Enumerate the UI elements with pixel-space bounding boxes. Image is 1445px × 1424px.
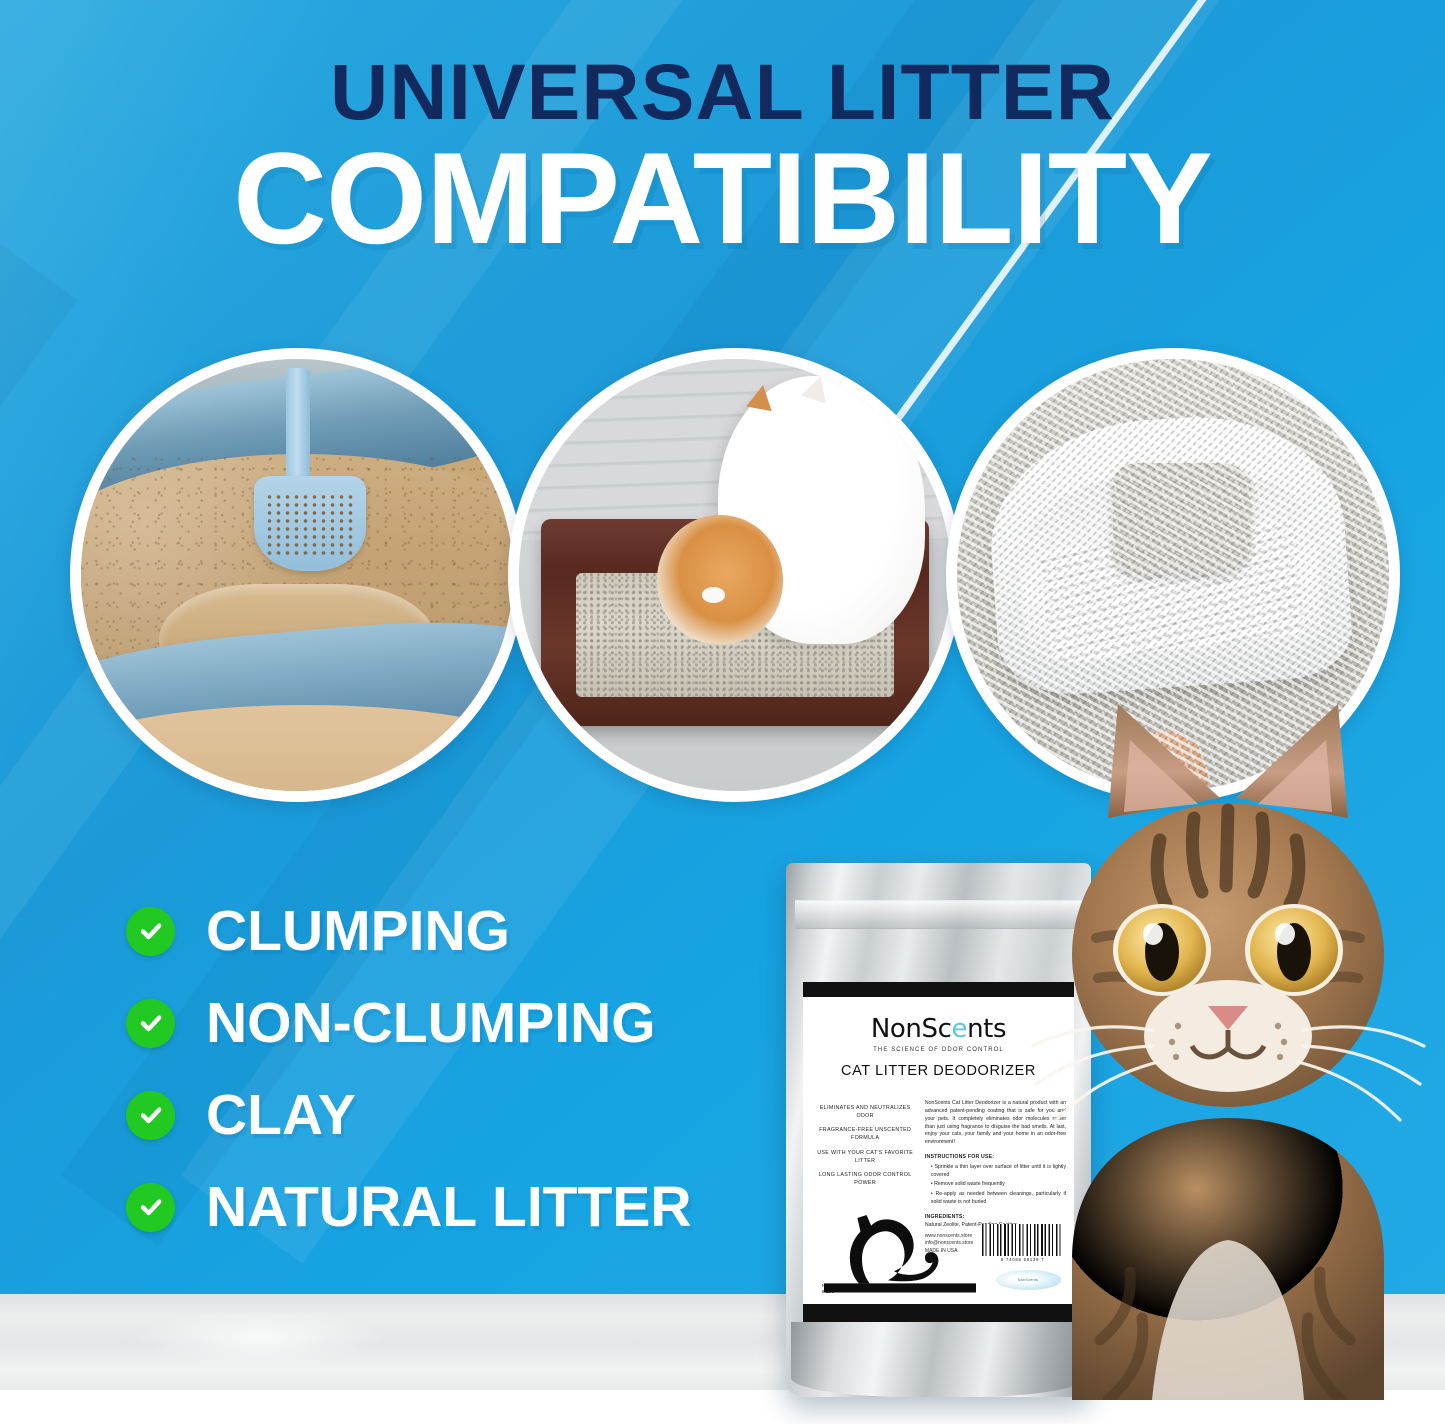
check-icon	[126, 907, 175, 956]
check-icon	[126, 1183, 175, 1232]
photo-kitten-in-brown-litter-box	[508, 348, 962, 802]
brand-text-part2: nts	[967, 1014, 1006, 1044]
litter-box-base	[81, 705, 513, 791]
check-icon	[126, 1091, 175, 1140]
feature-item: FRAGRANCE-FREE UNSCENTED FORMULA	[814, 1126, 917, 1142]
checklist-label: NON-CLUMPING	[206, 995, 656, 1052]
headline-line-1: UNIVERSAL LITTER	[0, 52, 1445, 131]
sitting-cat-silhouette-icon	[824, 1197, 976, 1304]
feature-item: USE WITH YOUR CAT'S FAVORITE LITTER	[814, 1149, 917, 1165]
kitten-muzzle	[702, 587, 725, 603]
kitten-head	[657, 515, 782, 645]
checklist-item-clumping: CLUMPING	[126, 900, 510, 962]
package-feature-list: ELIMINATES AND NEUTRALIZES ODOR FRAGRANC…	[814, 1104, 917, 1194]
scoop-slots	[1038, 522, 1305, 665]
feature-item: ELIMINATES AND NEUTRALIZES ODOR	[814, 1104, 917, 1120]
checklist-label: CLUMPING	[206, 903, 510, 960]
checklist-label: NATURAL LITTER	[206, 1179, 692, 1236]
litter-clump	[1113, 463, 1251, 575]
checklist-item-clay: CLAY	[126, 1084, 356, 1146]
checklist-item-natural-litter: NATURAL LITTER	[126, 1176, 692, 1238]
check-icon	[126, 999, 175, 1048]
white-litter-scoop	[983, 407, 1355, 699]
scoop-basin	[1015, 463, 1325, 671]
photo-blue-litter-box-with-scoop	[70, 348, 524, 802]
headline-line-2: COMPATIBILITY	[0, 133, 1445, 263]
product-infographic: UNIVERSAL LITTER COMPATIBILITY	[0, 0, 1445, 1424]
feature-item: LONG LASTING ODOR CONTROL POWER	[814, 1171, 917, 1187]
kitten-ear-left	[746, 383, 776, 411]
checklist-item-non-clumping: NON-CLUMPING	[126, 992, 656, 1054]
scoop-head	[254, 476, 366, 571]
checklist-label: CLAY	[206, 1087, 356, 1144]
brand-accent-letter: e	[951, 1014, 967, 1044]
brand-text-part1: NonSc	[871, 1014, 952, 1044]
tabby-cat-photo	[1012, 700, 1445, 1400]
